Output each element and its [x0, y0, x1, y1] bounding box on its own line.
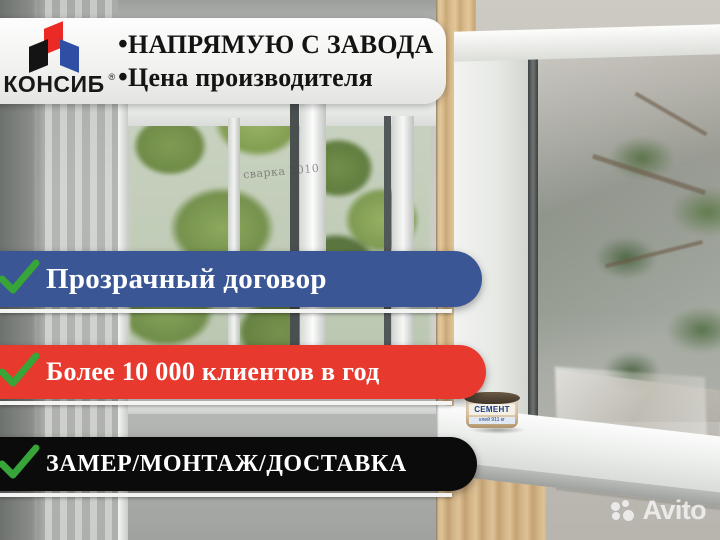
logo-rhombus-black-icon [29, 39, 48, 73]
photo-tub-sublabel: клей 911 кг [469, 417, 515, 424]
header-bullet-list: •НАПРЯМУЮ С ЗАВОДА •Цена производителя [118, 28, 433, 94]
avito-wordmark: Avito [643, 495, 707, 526]
feature-bar-contract: Прозрачный договор [0, 251, 482, 307]
brand-name: КОНСИБ ® [3, 71, 104, 98]
bullet-dot-icon: • [118, 62, 128, 93]
check-icon [0, 259, 40, 299]
header-panel: КОНСИБ ® •НАПРЯМУЮ С ЗАВОДА •Цена произв… [0, 18, 446, 104]
header-bullet-text: Цена производителя [128, 63, 373, 92]
photo-tub-label: СЕМЕНТ [469, 404, 515, 415]
brand-logo: КОНСИБ ® [0, 25, 108, 98]
feature-bar-label: ЗАМЕР/МОНТАЖ/ДОСТАВКА [46, 451, 407, 478]
header-bullet-item: •НАПРЯМУЮ С ЗАВОДА [118, 28, 433, 61]
feature-bar-clients: Более 10 000 клиентов в год [0, 345, 486, 399]
feature-bar-services: ЗАМЕР/МОНТАЖ/ДОСТАВКА [0, 437, 477, 491]
avito-watermark: Avito [611, 495, 707, 526]
logo-rhombus-blue-icon [60, 39, 79, 73]
check-icon [0, 352, 40, 392]
header-bullet-item: •Цена производителя [118, 61, 433, 94]
feature-bar-label: Прозрачный договор [46, 263, 327, 296]
photo-right-mullion [528, 48, 538, 426]
feature-bar-underline [0, 493, 452, 497]
feature-bar-label: Более 10 000 клиентов в год [46, 357, 380, 387]
header-bullet-text: НАПРЯМУЮ С ЗАВОДА [128, 30, 433, 59]
registered-mark-icon: ® [108, 72, 115, 82]
logo-mark-icon [23, 25, 85, 69]
brand-name-text: КОНСИБ [3, 71, 104, 97]
avito-dots-icon [611, 500, 637, 522]
bullet-dot-icon: • [118, 29, 128, 60]
advertisement-poster: сварка 2010 СЕМЕНТ клей 911 [0, 0, 720, 540]
feature-bar-underline [0, 309, 452, 313]
photo-sealant-tub: СЕМЕНТ клей 911 кг [466, 390, 518, 430]
feature-bar-underline [0, 401, 452, 405]
check-icon [0, 444, 40, 484]
